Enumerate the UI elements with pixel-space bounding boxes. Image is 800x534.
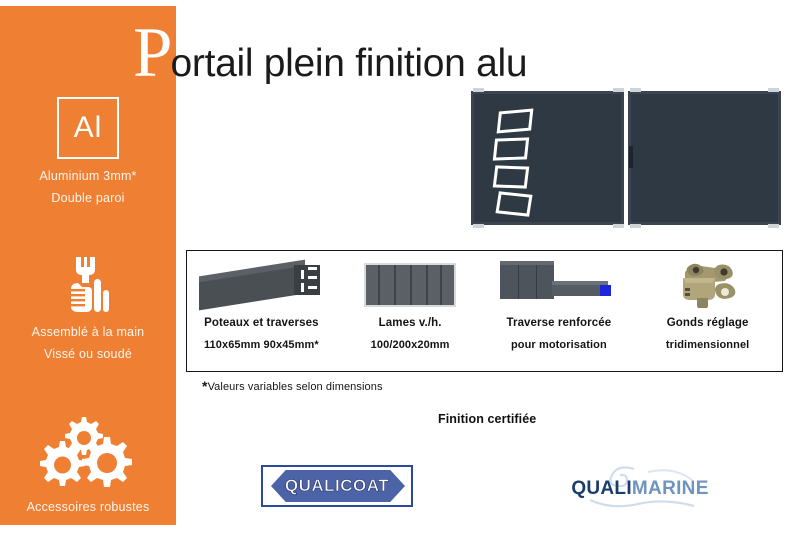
gears-icon bbox=[0, 411, 176, 497]
gate-post-cap bbox=[613, 88, 624, 92]
certification-heading: Finition certifiée bbox=[438, 412, 536, 426]
footnote-text: Valeurs variables selon dimensions bbox=[208, 381, 383, 393]
gate-post-foot bbox=[768, 224, 779, 228]
slats-panel-icon bbox=[364, 257, 456, 313]
qualimarine-logo: QUALIMARINE bbox=[558, 466, 722, 510]
gate-post-cap bbox=[473, 88, 484, 92]
reinforced-crossbar-icon bbox=[500, 257, 618, 313]
post-profile-icon bbox=[195, 257, 327, 313]
gate-center-gap bbox=[624, 91, 628, 225]
page-title-text: ortail plein finition alu bbox=[171, 44, 528, 83]
gate-post-cap bbox=[768, 88, 779, 92]
product-cell-hinges: Gonds réglage tridimensionnel bbox=[633, 251, 782, 371]
sidebar-feature-aluminium-line2: Double paroi bbox=[0, 188, 176, 210]
product-caption-line2: pour motorisation bbox=[511, 335, 607, 356]
gate-panel-right bbox=[628, 91, 781, 225]
gate-post-cap bbox=[630, 88, 641, 92]
gate-illustration bbox=[471, 91, 781, 225]
product-dimension: 100/200x20mm bbox=[371, 335, 450, 356]
product-dimension: 110x65mm 90x45mm* bbox=[204, 335, 319, 356]
qualicoat-logo: QUALICOAT bbox=[261, 465, 413, 507]
qualimarine-text-marine: MARINE bbox=[632, 478, 709, 499]
hinge-bracket-icon bbox=[675, 257, 741, 313]
gate-decor-cutout bbox=[495, 191, 532, 216]
qualicoat-logo-text: QUALICOAT bbox=[285, 476, 389, 496]
product-specs-frame: Poteaux et traverses 110x65mm 90x45mm* L… bbox=[186, 250, 783, 372]
gate-decor-cutout bbox=[493, 165, 530, 188]
sidebar-feature-accessories-line1: Accessoires robustes bbox=[0, 497, 176, 519]
sidebar-feature-aluminium: Al Aluminium 3mm* Double paroi bbox=[0, 90, 176, 209]
sidebar-feature-assembly-line1: Assemblé à la main bbox=[0, 322, 176, 344]
sidebar-feature-aluminium-line1: Aluminium 3mm* bbox=[0, 166, 176, 188]
sidebar-feature-assembly-line2: Vissé ou soudé bbox=[0, 344, 176, 366]
poster-page: Al Aluminium 3mm* Double paroi bbox=[0, 0, 800, 534]
product-cell-slats: Lames v./h. 100/200x20mm bbox=[336, 251, 485, 371]
gate-post-foot bbox=[473, 224, 484, 228]
al-symbol-text: Al bbox=[74, 113, 103, 143]
product-cell-crossbar: Traverse renforcée pour motorisation bbox=[485, 251, 634, 371]
product-cell-posts: Poteaux et traverses 110x65mm 90x45mm* bbox=[187, 251, 336, 371]
product-caption: Traverse renforcée bbox=[507, 313, 612, 335]
product-caption: Lames v./h. bbox=[379, 313, 442, 335]
page-title-initial: P bbox=[133, 24, 173, 84]
product-caption: Poteaux et traverses bbox=[204, 313, 319, 335]
gate-handle bbox=[629, 146, 633, 168]
product-caption: Gonds réglage bbox=[667, 313, 749, 335]
qualimarine-logo-text: QUALIMARINE bbox=[558, 478, 722, 500]
hand-wrench-icon bbox=[0, 246, 176, 322]
footnote: *Valeurs variables selon dimensions bbox=[202, 381, 383, 393]
gate-decor-cutout bbox=[493, 137, 529, 160]
page-title: P ortail plein finition alu bbox=[133, 24, 527, 84]
aluminium-al-square-icon: Al bbox=[0, 90, 176, 166]
gate-post-foot bbox=[613, 224, 624, 228]
gate-post-foot bbox=[630, 224, 641, 228]
sidebar-feature-accessories: Accessoires robustes bbox=[0, 411, 176, 519]
product-caption-line2: tridimensionnel bbox=[666, 335, 749, 356]
qualimarine-text-quali: QUALI bbox=[571, 478, 632, 499]
gate-decor-cutout bbox=[497, 109, 534, 134]
sidebar-feature-assembly: Assemblé à la main Vissé ou soudé bbox=[0, 246, 176, 365]
gate-panel-left bbox=[471, 91, 624, 225]
